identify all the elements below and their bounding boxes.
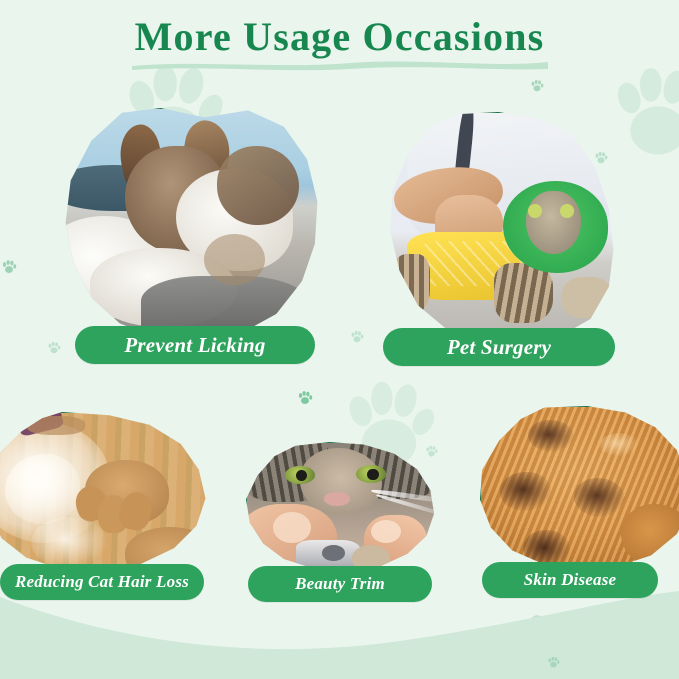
- paw-print-icon: [349, 329, 365, 345]
- infographic-canvas: More Usage Occasions Prevent Licking: [0, 0, 679, 679]
- paw-print-icon: [529, 78, 545, 94]
- photo-prevent-licking: [64, 109, 319, 341]
- photo-skin-disease: [481, 407, 679, 569]
- label-pill-beauty-trim[interactable]: Beauty Trim: [248, 566, 432, 602]
- occasion-label: Skin Disease: [524, 570, 617, 590]
- label-pill-reducing-cat-hair-loss[interactable]: Reducing Cat Hair Loss: [0, 564, 204, 600]
- occasion-label: Prevent Licking: [124, 333, 265, 358]
- photo-beauty-trim: [247, 443, 435, 571]
- occasion-card-reducing-cat-hair-loss[interactable]: Reducing Cat Hair Loss: [0, 412, 222, 602]
- page-title: More Usage Occasions: [135, 14, 545, 60]
- photo-frame: [388, 112, 618, 342]
- photo-reducing-cat-hair-loss: [0, 413, 209, 571]
- occasion-label: Pet Surgery: [447, 335, 551, 360]
- occasion-card-prevent-licking[interactable]: Prevent Licking: [45, 108, 335, 370]
- occasion-card-beauty-trim[interactable]: Beauty Trim: [238, 442, 442, 604]
- label-pill-prevent-licking[interactable]: Prevent Licking: [75, 326, 315, 364]
- occasion-card-skin-disease[interactable]: Skin Disease: [474, 406, 679, 598]
- label-pill-pet-surgery[interactable]: Pet Surgery: [383, 328, 615, 366]
- photo-pet-surgery: [389, 113, 617, 341]
- paw-print-icon: [296, 389, 314, 407]
- paw-print-icon: [546, 655, 561, 670]
- occasion-label: Beauty Trim: [295, 574, 385, 594]
- photo-frame: [63, 108, 320, 342]
- occasion-card-pet-surgery[interactable]: Pet Surgery: [368, 112, 630, 370]
- photo-frame: [0, 412, 210, 572]
- label-pill-skin-disease[interactable]: Skin Disease: [482, 562, 658, 598]
- page-title-block: More Usage Occasions: [0, 14, 679, 60]
- paw-print-icon: [0, 258, 18, 276]
- occasion-label: Reducing Cat Hair Loss: [15, 572, 189, 592]
- paw-print-icon: [488, 604, 600, 679]
- photo-frame: [246, 442, 436, 572]
- photo-frame: [480, 406, 679, 570]
